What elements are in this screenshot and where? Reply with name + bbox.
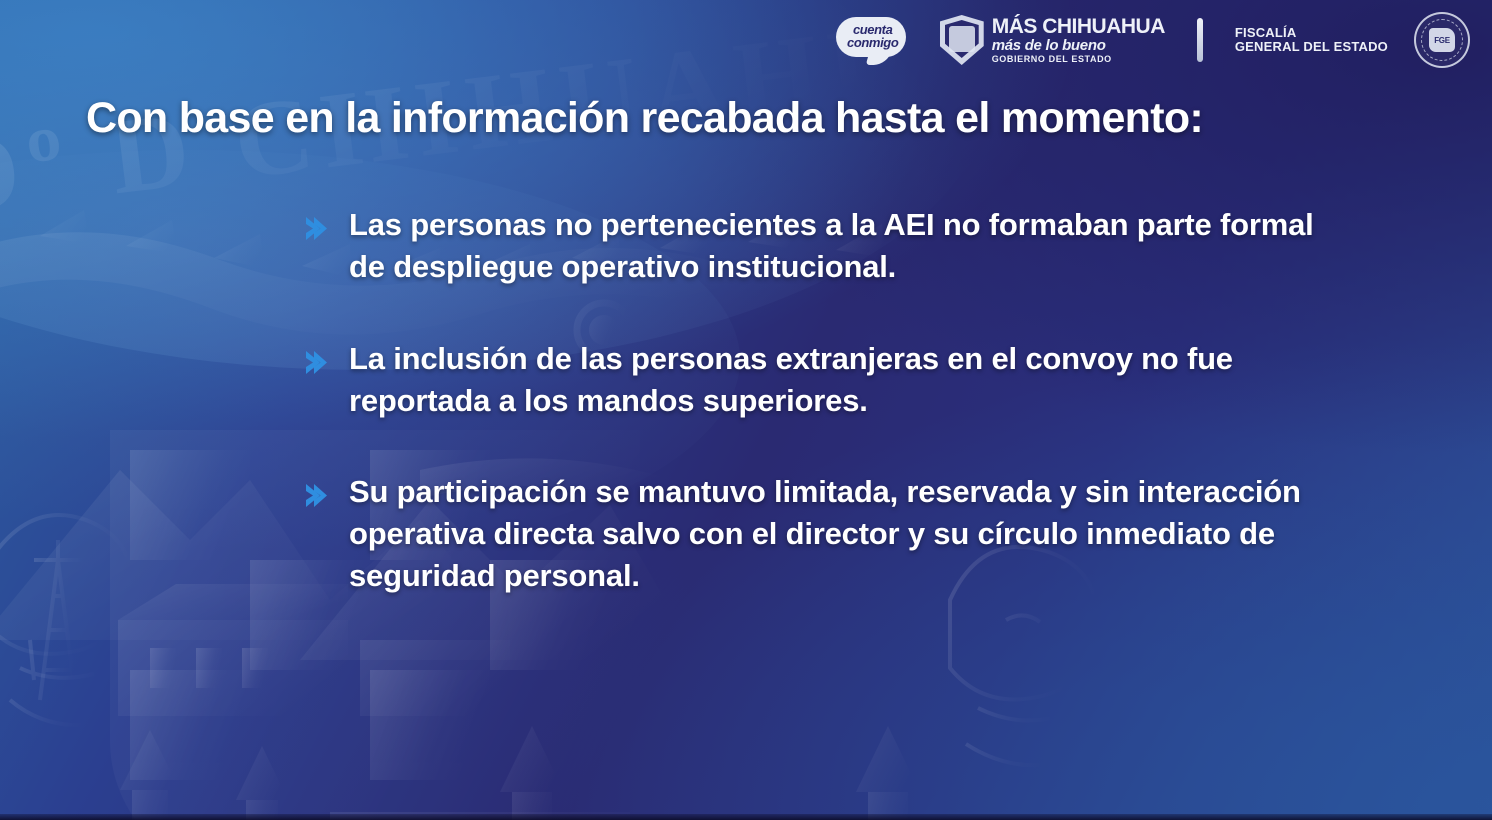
- fge-seal-icon: FGE: [1414, 12, 1470, 68]
- page-title: Con base en la información recabada hast…: [86, 94, 1426, 143]
- speech-bubble-icon: cuenta conmigo: [828, 15, 914, 65]
- cuenta-conmigo-logo: cuenta conmigo: [828, 15, 914, 65]
- mas-chihuahua-line3: GOBIERNO DEL ESTADO: [992, 55, 1165, 64]
- chevron-right-icon: [302, 214, 328, 244]
- cuenta-conmigo-line2: conmigo: [837, 36, 909, 49]
- presentation-slide: Oº D CHIHUAHUA: [0, 0, 1492, 820]
- chevron-right-icon: [302, 348, 328, 378]
- list-item-text: Su participación se mantuvo limitada, re…: [349, 471, 1342, 597]
- mas-chihuahua-line2: más de lo bueno: [992, 38, 1165, 53]
- chihuahua-shield-icon: [940, 15, 984, 65]
- list-item: Las personas no pertenecientes a la AEI …: [302, 204, 1342, 288]
- fiscalia-general-logo: FISCALÍA GENERAL DEL ESTADO: [1235, 26, 1388, 54]
- list-item: Su participación se mantuvo limitada, re…: [302, 471, 1342, 597]
- list-item-text: Las personas no pertenecientes a la AEI …: [349, 204, 1342, 288]
- logo-divider: [1197, 18, 1203, 62]
- fge-monogram: FGE: [1429, 28, 1455, 52]
- cuenta-conmigo-line1: cuenta: [837, 23, 909, 36]
- mas-chihuahua-logo: MÁS CHIHUAHUA más de lo bueno GOBIERNO D…: [940, 15, 1165, 65]
- header-logo-bar: cuenta conmigo MÁS CHIHUAHUA más de lo b…: [828, 12, 1470, 68]
- fiscalia-line2: GENERAL DEL ESTADO: [1235, 40, 1388, 54]
- fiscalia-line1: FISCALÍA: [1235, 26, 1388, 40]
- list-item-text: La inclusión de las personas extranjeras…: [349, 338, 1342, 422]
- mas-chihuahua-line1: MÁS CHIHUAHUA: [992, 16, 1165, 37]
- list-item: La inclusión de las personas extranjeras…: [302, 338, 1342, 422]
- bullet-list: Las personas no pertenecientes a la AEI …: [302, 204, 1342, 597]
- chevron-right-icon: [302, 481, 328, 511]
- bottom-edge: [0, 814, 1492, 820]
